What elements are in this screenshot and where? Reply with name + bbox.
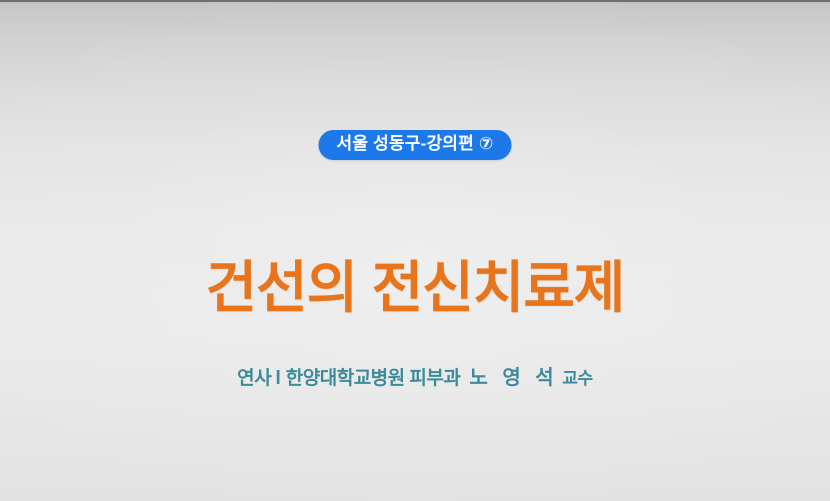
lecture-title: 건선의 전신치료제: [206, 256, 625, 320]
title-slide: 서울 성동구-강의편 ⑦ 건선의 전신치료제 연사 l 한양대학교병원 피부과 …: [0, 0, 830, 501]
speaker-affiliation: 한양대학교병원 피부과: [286, 367, 461, 391]
lecture-series-badge: 서울 성동구-강의편 ⑦: [318, 130, 511, 160]
top-divider-rule: [0, 0, 830, 2]
speaker-divider: l: [271, 367, 285, 391]
slide-content: 서울 성동구-강의편 ⑦ 건선의 전신치료제 연사 l 한양대학교병원 피부과 …: [0, 0, 830, 501]
speaker-honorific: 교수: [558, 367, 593, 391]
speaker-label: 연사: [237, 367, 271, 391]
speaker-credit-line: 연사 l 한양대학교병원 피부과 노 영 석 교수: [237, 366, 593, 391]
speaker-name: 노 영 석: [460, 366, 558, 390]
